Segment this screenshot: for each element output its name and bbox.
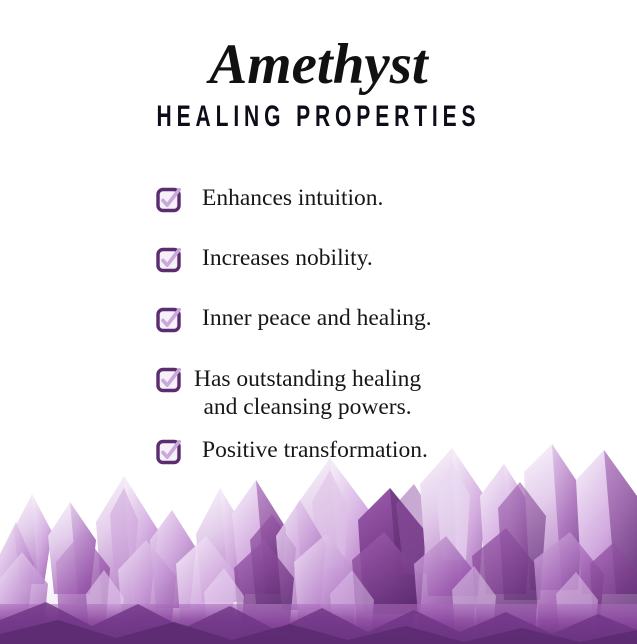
list-item[interactable]: Increases nobility.: [156, 245, 576, 273]
amethyst-healing-properties-poster: Amethyst HEALING PROPERTIES Enhances int…: [0, 0, 637, 644]
amethyst-crystal-cluster-photo: [0, 444, 637, 644]
poster-header: Amethyst HEALING PROPERTIES: [0, 34, 637, 134]
checked-checkbox-icon[interactable]: [156, 187, 182, 213]
list-item[interactable]: Has outstanding healing and cleansing po…: [156, 365, 576, 421]
list-item-label: Increases nobility.: [202, 245, 373, 272]
checked-checkbox-icon[interactable]: [156, 367, 182, 393]
list-item-label: Has outstanding healing and cleansing po…: [194, 365, 421, 421]
page-subtitle: HEALING PROPERTIES: [96, 100, 542, 134]
list-item[interactable]: Enhances intuition.: [156, 185, 576, 213]
list-item-label: Inner peace and healing.: [202, 305, 432, 332]
page-title: Amethyst: [0, 34, 637, 96]
list-item[interactable]: Inner peace and healing.: [156, 305, 576, 333]
list-item-label: Enhances intuition.: [202, 185, 383, 212]
checked-checkbox-icon[interactable]: [156, 247, 182, 273]
checked-checkbox-icon[interactable]: [156, 307, 182, 333]
